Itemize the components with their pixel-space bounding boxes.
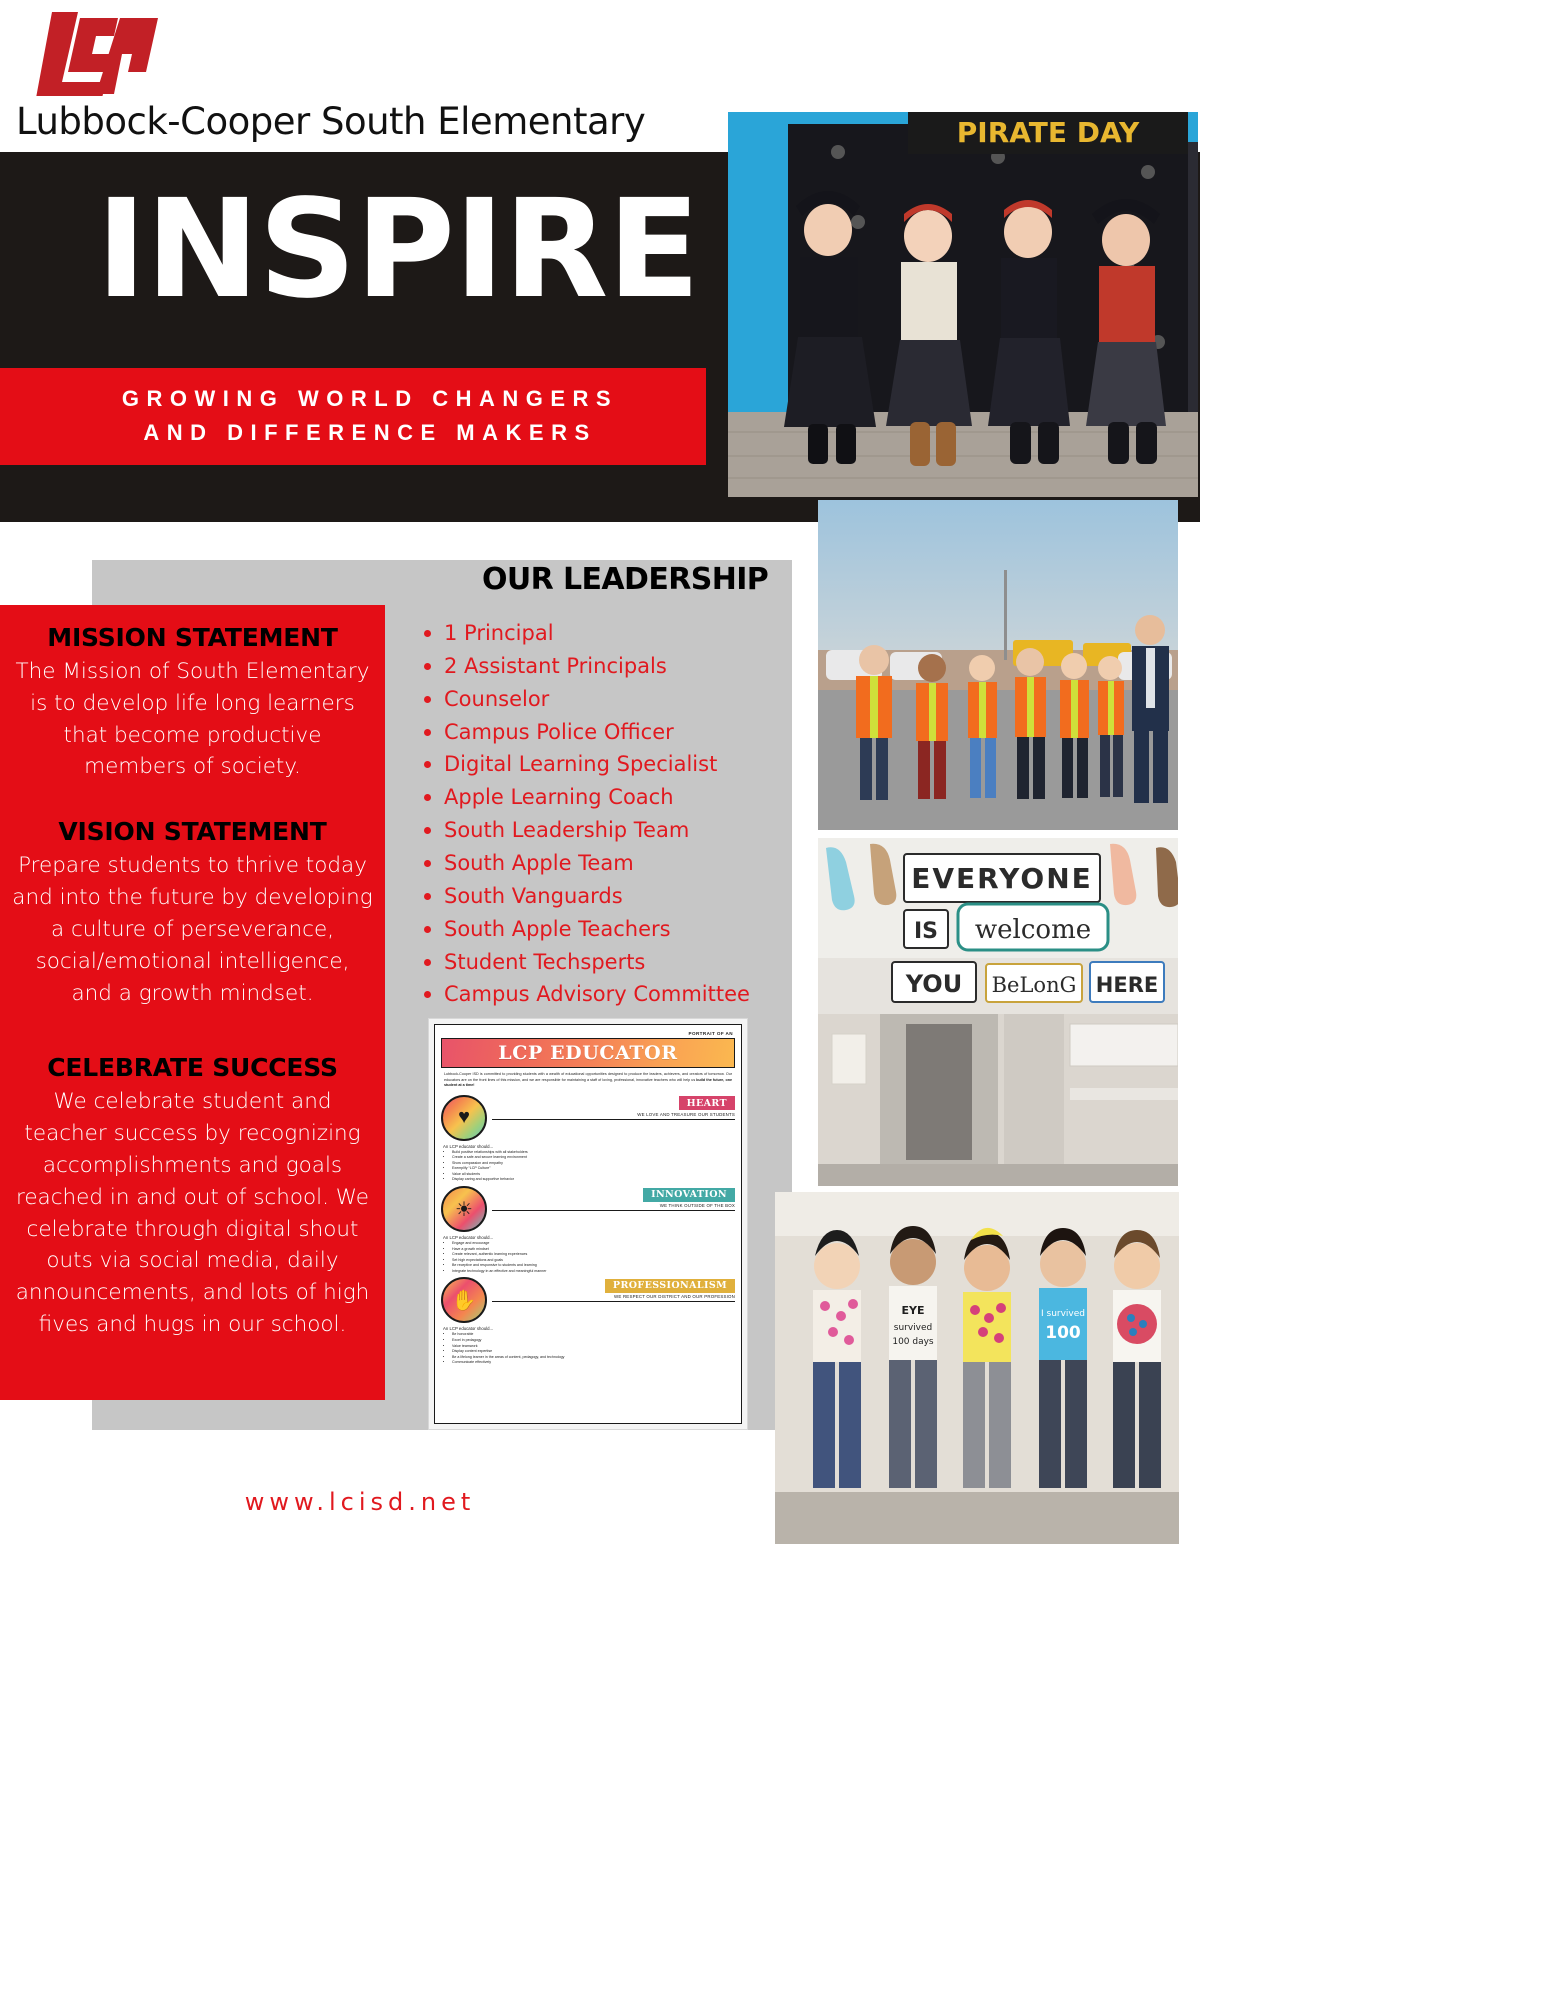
hero-tagline-line-1: GROWING WORLD CHANGERS [50,382,690,416]
leadership-item: South Leadership Team [418,814,778,847]
poster-section-tag: PROFESSIONALISM [605,1279,735,1293]
mission-heading: MISSION STATEMENT [12,623,373,652]
leadership-item: South Vanguards [418,880,778,913]
vision-heading: VISION STATEMENT [12,817,373,846]
leadership-item: South Apple Team [418,847,778,880]
vision-body: Prepare students to thrive today and int… [12,850,373,1009]
celebrate-heading: CELEBRATE SUCCESS [12,1053,373,1082]
poster-section-bullets: Be honorableExcel in pedagogyValue teamw… [441,1332,735,1365]
svg-text:welcome: welcome [975,915,1091,945]
poster-section-leadin: An LCP educator should... [441,1232,735,1241]
svg-text:BeLonG: BeLonG [992,973,1077,997]
poster-section-tag: INNOVATION [643,1188,735,1202]
svg-text:IS: IS [914,919,938,944]
leadership-item: Campus Police Officer [418,716,778,749]
hero-tagline-line-2: AND DIFFERENCE MAKERS [50,416,690,450]
svg-text:HERE: HERE [1096,973,1158,997]
poster-kicker: PORTRAIT OF AN [441,1029,735,1038]
svg-text:PIRATE DAY: PIRATE DAY [957,116,1140,149]
poster-section-subtitle: WE RESPECT OUR DISTRICT AND OUR PROFESSI… [492,1293,735,1302]
poster-section-leadin: An LCP educator should... [441,1141,735,1150]
svg-text:EYE: EYE [902,1304,925,1317]
hero-tagline: GROWING WORLD CHANGERS AND DIFFERENCE MA… [50,382,690,450]
poster-intro: Lubbock-Cooper ISD is committed to provi… [441,1068,735,1092]
leadership-item: Digital Learning Specialist [418,748,778,781]
svg-text:EVERYONE: EVERYONE [911,862,1093,895]
poster-section-bullets: Engage and encourageHave a growth mindse… [441,1241,735,1274]
poster-section: ♥HEARTWE LOVE AND TREASURE OUR STUDENTSA… [441,1093,735,1183]
poster-bullet: Communicate effectively [452,1360,735,1366]
flyer-page: Lubbock-Cooper South Elementary INSPIRE … [0,0,1545,2000]
leadership-list: 1 Principal2 Assistant PrincipalsCounsel… [418,617,778,1011]
poster-section-leadin: An LCP educator should... [441,1323,735,1332]
pirate-day-photo: PIRATE DAY [728,112,1198,497]
poster-section-bullets: Build positive relationships with all st… [441,1150,735,1183]
poster-section-tag: HEART [679,1096,735,1110]
poster-section: ☀INNOVATIONWE THINK OUTSIDE OF THE BOXAn… [441,1184,735,1274]
poster-banner: LCP EDUCATOR [441,1038,735,1068]
mission-body: The Mission of South Elementary is to de… [12,656,373,783]
poster-section-subtitle: WE THINK OUTSIDE OF THE BOX [492,1202,735,1211]
lightbulb-icon: ☀ [441,1186,487,1232]
poster-intro-text: Lubbock-Cooper ISD is committed to provi… [444,1072,732,1082]
svg-text:100 days: 100 days [892,1337,934,1347]
heart-icon: ♥ [441,1095,487,1141]
poster-sections: ♥HEARTWE LOVE AND TREASURE OUR STUDENTSA… [441,1093,735,1366]
leadership-item: Counselor [418,683,778,716]
leadership-item: 1 Principal [418,617,778,650]
website-url[interactable]: www.lcisd.net [0,1488,720,1516]
poster-section-subtitle: WE LOVE AND TREASURE OUR STUDENTS [492,1111,735,1120]
svg-text:YOU: YOU [905,970,962,998]
poster-bullet: Display caring and supportive behavior [452,1177,735,1183]
svg-text:I survived: I survived [1041,1309,1085,1319]
celebrate-body: We celebrate student and teacher success… [12,1086,373,1341]
lcp-educator-poster: PORTRAIT OF AN LCP EDUCATOR Lubbock-Coop… [428,1018,748,1430]
leadership-item: Apple Learning Coach [418,781,778,814]
hundred-days-photo: EYE survived 100 days I survived 100 [775,1192,1179,1544]
lcp-logo-icon [22,8,162,96]
leadership-item: 2 Assistant Principals [418,650,778,683]
leadership-title: OUR LEADERSHIP [482,562,768,597]
poster-banner-title: LCP EDUCATOR [498,1042,677,1064]
poster-section: ✋PROFESSIONALISMWE RESPECT OUR DISTRICT … [441,1275,735,1365]
leadership-item: Campus Advisory Committee [418,978,778,1011]
safety-patrol-photo [818,500,1178,830]
school-name: Lubbock-Cooper South Elementary [16,100,645,143]
welcome-hallway-photo: EVERYONE IS welcome YOU BeLonG HERE [818,838,1178,1186]
hero-headline: INSPIRE [96,182,699,318]
poster-bullet: Integrate technology in an effective and… [452,1269,735,1275]
handshake-icon: ✋ [441,1277,487,1323]
svg-text:survived: survived [894,1323,933,1333]
leadership-item: Student Techsperts [418,946,778,979]
svg-text:100: 100 [1045,1323,1081,1343]
mission-vision-celebrate-box: MISSION STATEMENT The Mission of South E… [0,605,385,1400]
leadership-item: South Apple Teachers [418,913,778,946]
